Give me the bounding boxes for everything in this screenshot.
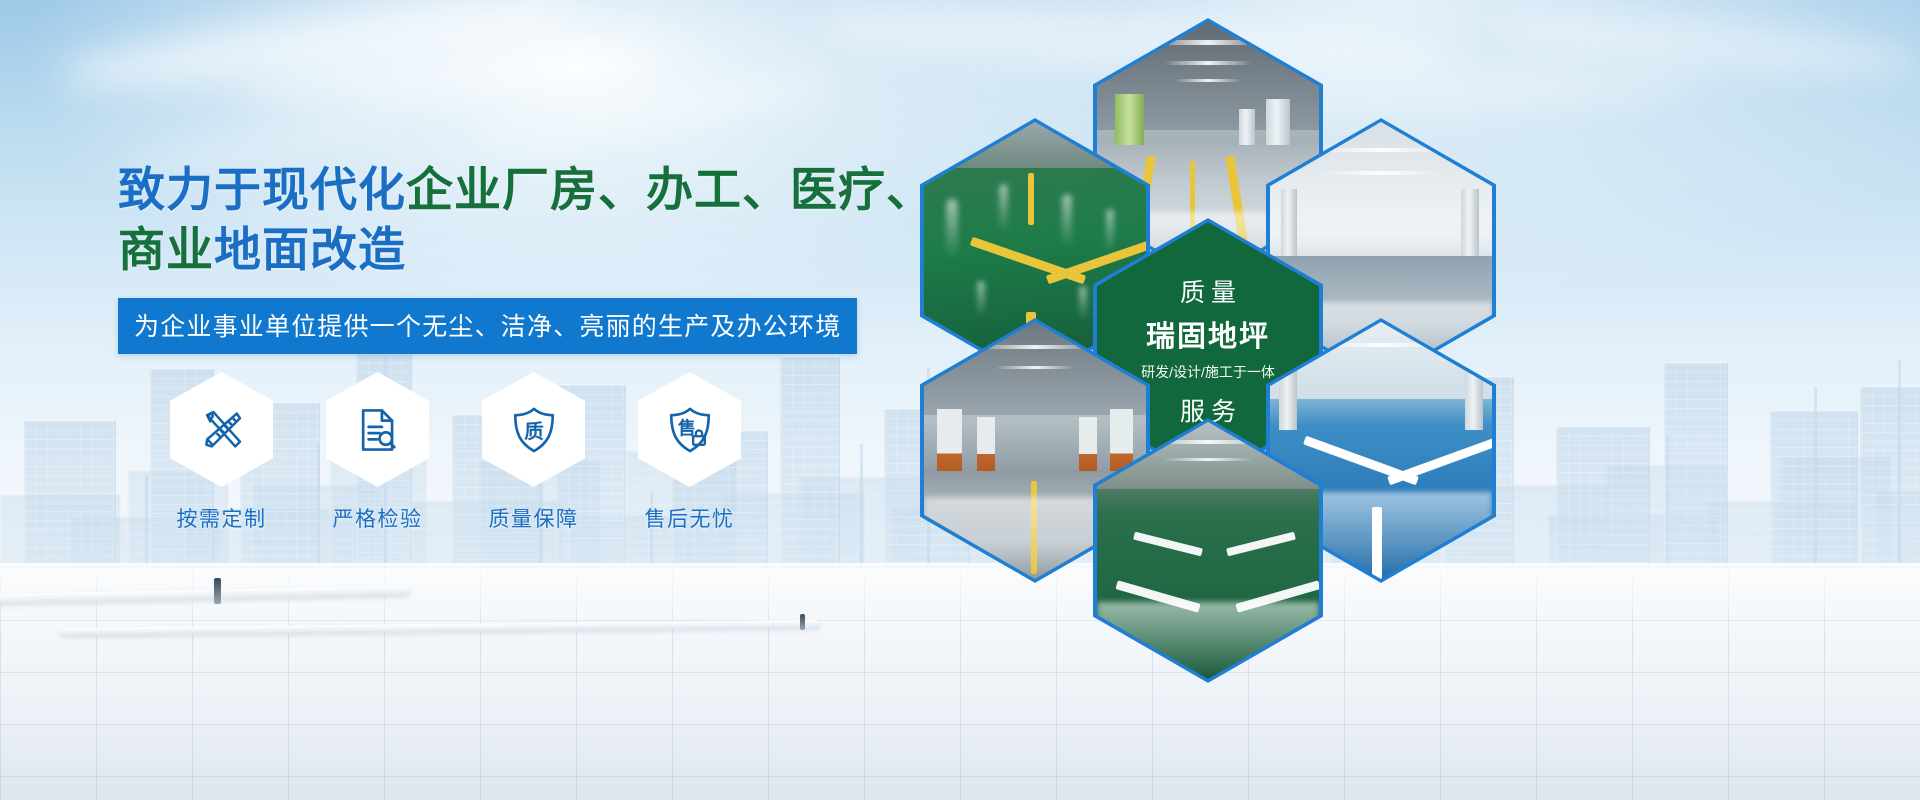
hex-photo-cluster: 质量 瑞固地坪 研发/设计/施工于一体 服务 [898,58,1518,644]
building [1860,386,1920,580]
building [1556,426,1650,580]
after-sales-icon: 售 [665,405,715,455]
headline-line1-blue: 致力于现代化 [118,163,406,216]
svg-text:质: 质 [524,420,544,442]
page-title: 致力于现代化企业厂房、办工、医疗、 商业地面改造 [118,160,938,280]
feature-item[interactable]: 质 质量保障 [482,372,585,533]
building-spire [1898,360,1901,580]
feature-label: 严格检验 [326,503,429,533]
rail-post [800,614,805,630]
brand-name: 瑞固地坪 [1146,313,1270,355]
feature-hex-background [326,372,429,487]
building [24,420,116,580]
feature-item[interactable]: 售 售后无忧 [638,372,741,533]
feature-label: 质量保障 [482,503,585,533]
headline-line2-blue: 地面改造 [214,223,406,276]
feature-hex-background: 质 [482,372,585,487]
building [1664,362,1728,580]
feature-hex-background: 售 [638,372,741,487]
document-search-icon [353,405,403,455]
headline-block: 致力于现代化企业厂房、办工、医疗、 商业地面改造 为企业事业单位提供一个无尘、洁… [118,160,938,354]
hero-banner: 致力于现代化企业厂房、办工、医疗、 商业地面改造 为企业事业单位提供一个无尘、洁… [0,0,1920,800]
feature-list: 按需定制 严格检验 质 [170,372,741,533]
shield-quality-icon: 质 [509,405,559,455]
ruler-pencil-icon [197,405,247,455]
feature-label: 售后无忧 [638,503,741,533]
headline-line2-green: 商业 [118,223,214,276]
building-spire [1814,387,1817,580]
rail-post [214,578,221,604]
feature-hex-background [170,372,273,487]
subtitle-bar: 为企业事业单位提供一个无尘、洁净、亮丽的生产及办公环境 [118,298,857,354]
building-spire [860,444,863,580]
feature-label: 按需定制 [170,503,273,533]
brand-top-text: 质量 [1174,273,1242,309]
building [780,356,840,580]
feature-item[interactable]: 按需定制 [170,372,273,533]
brand-tagline: 研发/设计/施工于一体 [1141,362,1275,382]
feature-item[interactable]: 严格检验 [326,372,429,533]
headline-line1-green: 企业厂房、办工、医疗、 [406,163,934,216]
